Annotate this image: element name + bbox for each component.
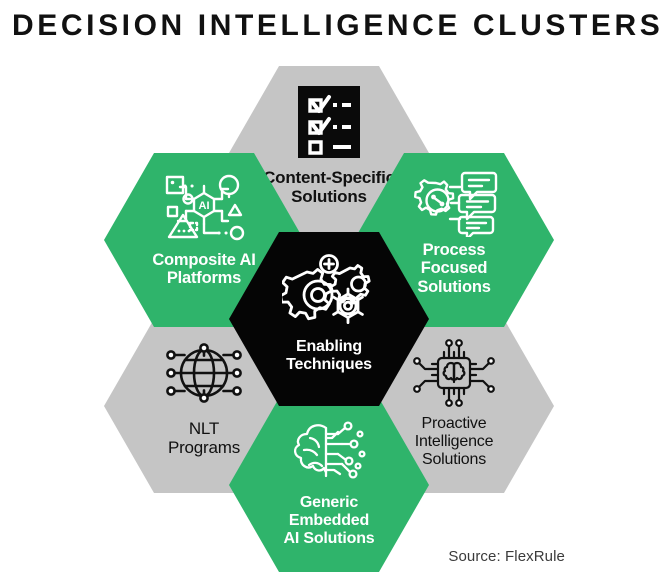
hexagon-cluster-diagram: Content-Specific Solutions <box>0 58 659 563</box>
label-line: Process <box>423 241 486 259</box>
label-line: Platforms <box>167 269 241 287</box>
ai-network-icon: AI <box>159 169 249 245</box>
label-line: Solutions <box>422 451 486 468</box>
source-credit: Source: FlexRule <box>448 548 565 565</box>
label-line: Solutions <box>417 278 490 296</box>
hex-label-enabling-techniques: Enabling Techniques <box>280 338 378 374</box>
globe-network-icon <box>158 341 250 405</box>
brain-circuit-icon <box>286 416 372 488</box>
checklist-icon <box>298 86 360 158</box>
svg-text:AI: AI <box>199 200 210 212</box>
label-line: Focused <box>421 259 487 277</box>
label-line: Proactive <box>422 415 487 432</box>
hex-label-nlt-programs: NLT Programs <box>162 419 246 457</box>
label-line: Enabling <box>296 338 362 355</box>
label-line: NLT <box>189 419 219 438</box>
label-line: Generic <box>300 494 358 511</box>
label-line: Intelligence <box>415 433 494 450</box>
label-line: Solutions <box>291 187 367 206</box>
hex-label-process-focused-solutions: Process Focused Solutions <box>411 241 496 296</box>
hex-label-generic-embedded-ai-solutions: Generic Embedded AI Solutions <box>278 494 381 548</box>
label-line: Programs <box>168 438 240 457</box>
hex-label-proactive-intelligence-solutions: Proactive Intelligence Solutions <box>409 415 500 469</box>
label-line: Techniques <box>286 356 372 373</box>
page-title: DECISION INTELLIGENCE CLUSTERS <box>12 6 652 46</box>
gear-chat-icon <box>410 167 498 237</box>
label-line: Composite AI <box>152 251 255 269</box>
label-line: Content-Specific <box>263 168 395 187</box>
label-line: Embedded <box>289 512 369 529</box>
label-line: AI Solutions <box>284 530 375 547</box>
brain-chip-icon <box>412 337 496 407</box>
hex-label-composite-ai-platforms: Composite AI Platforms <box>146 251 261 288</box>
gears-icon <box>282 254 376 330</box>
